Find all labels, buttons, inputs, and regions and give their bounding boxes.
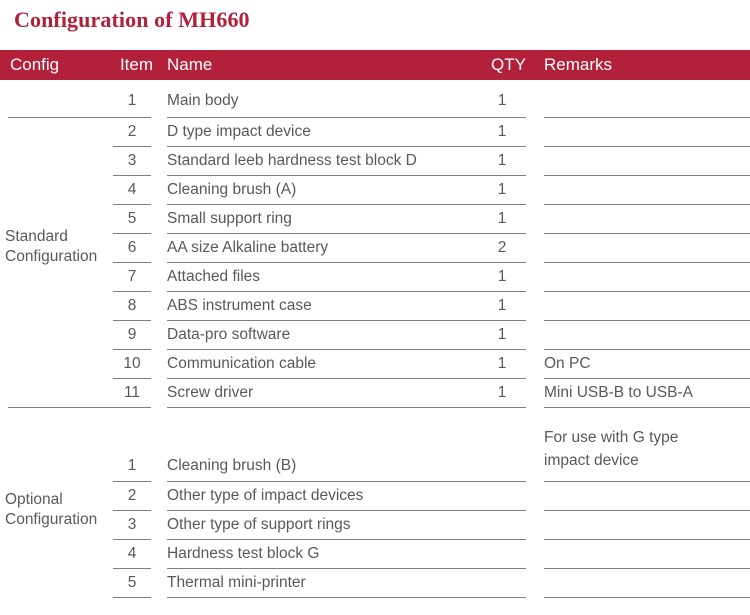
table-row[interactable]: 11Screw driver1Mini USB-B to USB-A xyxy=(0,379,750,408)
table-row[interactable]: 4Hardness test block G xyxy=(0,540,750,569)
cell-remarks: Mini USB-B to USB-A xyxy=(532,379,750,408)
cell-name: Cleaning brush (B) xyxy=(155,422,478,482)
cell-qty: 1 xyxy=(478,176,532,205)
cell-name: D type impact device xyxy=(155,118,478,147)
config-label: Optional Configuration xyxy=(5,490,113,530)
table-row[interactable]: 3Other type of support rings xyxy=(0,511,750,540)
cell-qty xyxy=(478,422,532,482)
cell-name: Communication cable xyxy=(155,350,478,379)
cell-remarks xyxy=(532,482,750,511)
cell-item: 3 xyxy=(113,147,155,176)
cell-item: 11 xyxy=(113,379,155,408)
configuration-table: Config Item Name QTY Remarks Standard Co… xyxy=(0,50,750,598)
cell-qty: 2 xyxy=(478,234,532,263)
cell-qty: 1 xyxy=(478,292,532,321)
table-row[interactable]: 3Standard leeb hardness test block D1 xyxy=(0,147,750,176)
table-row[interactable]: 4Cleaning brush (A)1 xyxy=(0,176,750,205)
cell-item: 2 xyxy=(113,482,155,511)
table-row[interactable]: Optional Configuration1Cleaning brush (B… xyxy=(0,422,750,482)
cell-qty: 1 xyxy=(478,147,532,176)
cell-remarks xyxy=(532,321,750,350)
column-header-remarks: Remarks xyxy=(532,50,750,80)
cell-remarks xyxy=(532,234,750,263)
cell-name: Data-pro software xyxy=(155,321,478,350)
configuration-page: Configuration of MH660 Config Item Name … xyxy=(0,0,750,615)
section-gap-row xyxy=(0,408,750,422)
cell-item: 7 xyxy=(113,263,155,292)
cell-qty xyxy=(478,540,532,569)
table-row[interactable]: 6AA size Alkaline battery2 xyxy=(0,234,750,263)
table-row[interactable]: 7Attached files1 xyxy=(0,263,750,292)
cell-qty: 1 xyxy=(478,205,532,234)
cell-item: 6 xyxy=(113,234,155,263)
cell-item: 4 xyxy=(113,540,155,569)
page-title: Configuration of MH660 xyxy=(14,6,250,34)
config-label-cell: Standard Configuration xyxy=(0,86,113,408)
config-label: Standard Configuration xyxy=(5,227,113,267)
column-header-name: Name xyxy=(155,50,478,80)
cell-name: AA size Alkaline battery xyxy=(155,234,478,263)
cell-item: 3 xyxy=(113,511,155,540)
table-header-row: Config Item Name QTY Remarks xyxy=(0,50,750,80)
cell-name: Other type of impact devices xyxy=(155,482,478,511)
cell-remarks xyxy=(532,569,750,598)
cell-qty xyxy=(478,511,532,540)
cell-qty xyxy=(478,569,532,598)
cell-name: Other type of support rings xyxy=(155,511,478,540)
table-row[interactable]: 5Thermal mini-printer xyxy=(0,569,750,598)
cell-name: Screw driver xyxy=(155,379,478,408)
table-row[interactable]: 10Communication cable1On PC xyxy=(0,350,750,379)
cell-qty xyxy=(478,482,532,511)
cell-remarks xyxy=(532,263,750,292)
cell-remarks xyxy=(532,292,750,321)
column-header-qty: QTY xyxy=(478,50,532,80)
cell-item: 1 xyxy=(113,86,155,118)
cell-remarks xyxy=(532,86,750,118)
table-row[interactable]: Standard Configuration1Main body1 xyxy=(0,86,750,118)
cell-item: 4 xyxy=(113,176,155,205)
cell-name: Standard leeb hardness test block D xyxy=(155,147,478,176)
cell-remarks xyxy=(532,205,750,234)
cell-remarks xyxy=(532,540,750,569)
config-rule-standard-top xyxy=(8,117,114,118)
cell-qty: 1 xyxy=(478,86,532,118)
cell-name: Small support ring xyxy=(155,205,478,234)
cell-remarks: On PC xyxy=(532,350,750,379)
table-body: Standard Configuration1Main body12D type… xyxy=(0,80,750,598)
cell-qty: 1 xyxy=(478,321,532,350)
column-header-config: Config xyxy=(0,50,113,80)
cell-qty: 1 xyxy=(478,118,532,147)
cell-name: ABS instrument case xyxy=(155,292,478,321)
cell-item: 8 xyxy=(113,292,155,321)
cell-qty: 1 xyxy=(478,379,532,408)
cell-name: Hardness test block G xyxy=(155,540,478,569)
table-row[interactable]: 5Small support ring1 xyxy=(0,205,750,234)
cell-remarks xyxy=(532,511,750,540)
table-row[interactable]: 2Other type of impact devices xyxy=(0,482,750,511)
cell-name: Cleaning brush (A) xyxy=(155,176,478,205)
cell-qty: 1 xyxy=(478,263,532,292)
cell-name: Main body xyxy=(155,86,478,118)
cell-qty: 1 xyxy=(478,350,532,379)
table-row[interactable]: 9Data-pro software1 xyxy=(0,321,750,350)
table-row[interactable]: 2D type impact device1 xyxy=(0,118,750,147)
cell-item: 5 xyxy=(113,205,155,234)
cell-item: 9 xyxy=(113,321,155,350)
cell-item: 1 xyxy=(113,422,155,482)
cell-name: Attached files xyxy=(155,263,478,292)
cell-item: 2 xyxy=(113,118,155,147)
cell-remarks xyxy=(532,176,750,205)
cell-remarks xyxy=(532,147,750,176)
cell-item: 5 xyxy=(113,569,155,598)
table-row[interactable]: 8ABS instrument case1 xyxy=(0,292,750,321)
cell-remarks xyxy=(532,118,750,147)
cell-item: 10 xyxy=(113,350,155,379)
cell-remarks: For use with G type impact device xyxy=(532,422,750,482)
config-label-cell: Optional Configuration xyxy=(0,422,113,598)
config-rule-standard-bottom xyxy=(8,407,114,408)
column-header-item: Item xyxy=(113,50,155,80)
cell-name: Thermal mini-printer xyxy=(155,569,478,598)
